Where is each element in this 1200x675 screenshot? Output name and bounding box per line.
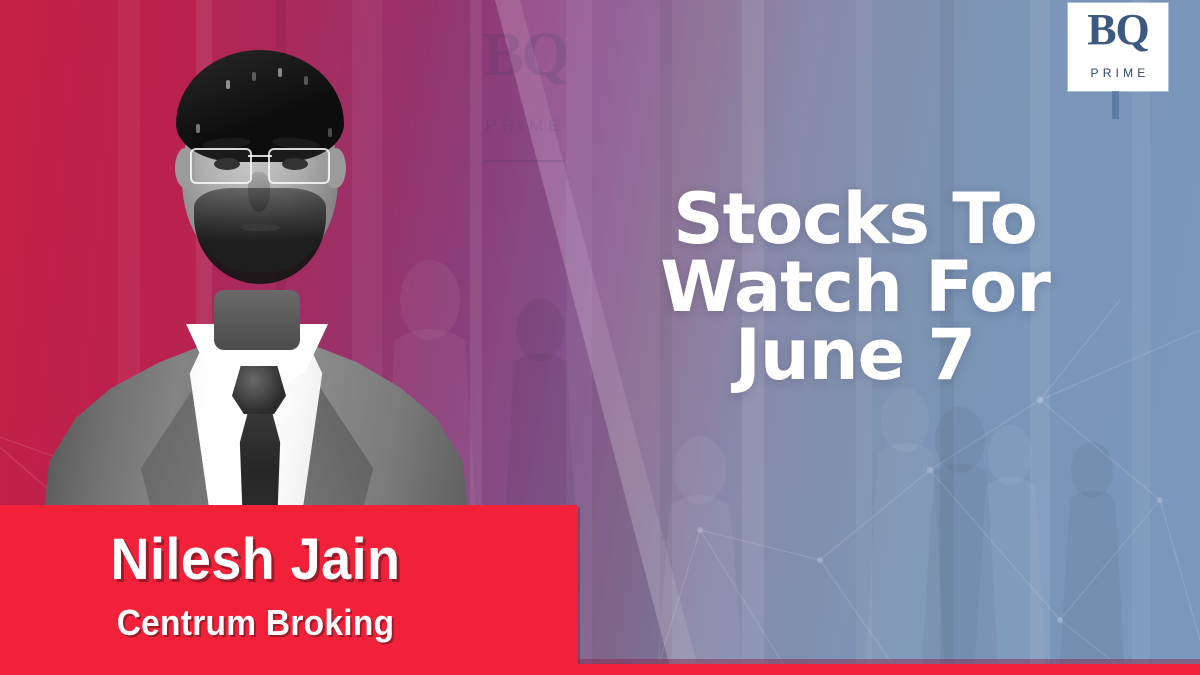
headline-line-2: Watch For (600, 254, 1110, 322)
headline-line-1: Stocks To (600, 186, 1110, 254)
bq-prime-logo[interactable]: BQ PRIME (1068, 3, 1168, 91)
speaker-name-banner: Nilesh Jain Centrum Broking (0, 505, 578, 675)
headline-line-3: June 7 (600, 322, 1110, 390)
bq-logo-mark: BQ (1068, 7, 1168, 53)
portrait-glasses (190, 148, 330, 182)
speaker-portrait (36, 28, 476, 528)
portrait-beard (194, 188, 326, 284)
speaker-organisation: Centrum Broking (20, 605, 558, 641)
headline-title: Stocks To Watch For June 7 (600, 186, 1110, 390)
thumbnail-card: BQ PRIME (0, 0, 1200, 675)
portrait-glasses-lens-right (268, 148, 330, 184)
portrait-glasses-lens-left (190, 148, 252, 184)
bq-prime-logo-stem (1112, 91, 1119, 119)
portrait-necktie-knot (232, 366, 286, 414)
portrait-mouth (240, 224, 280, 231)
speaker-name: Nilesh Jain (20, 531, 558, 589)
bottom-accent-strip (0, 664, 1200, 675)
bq-logo-word: PRIME (1068, 66, 1168, 80)
portrait-neck (214, 290, 300, 350)
